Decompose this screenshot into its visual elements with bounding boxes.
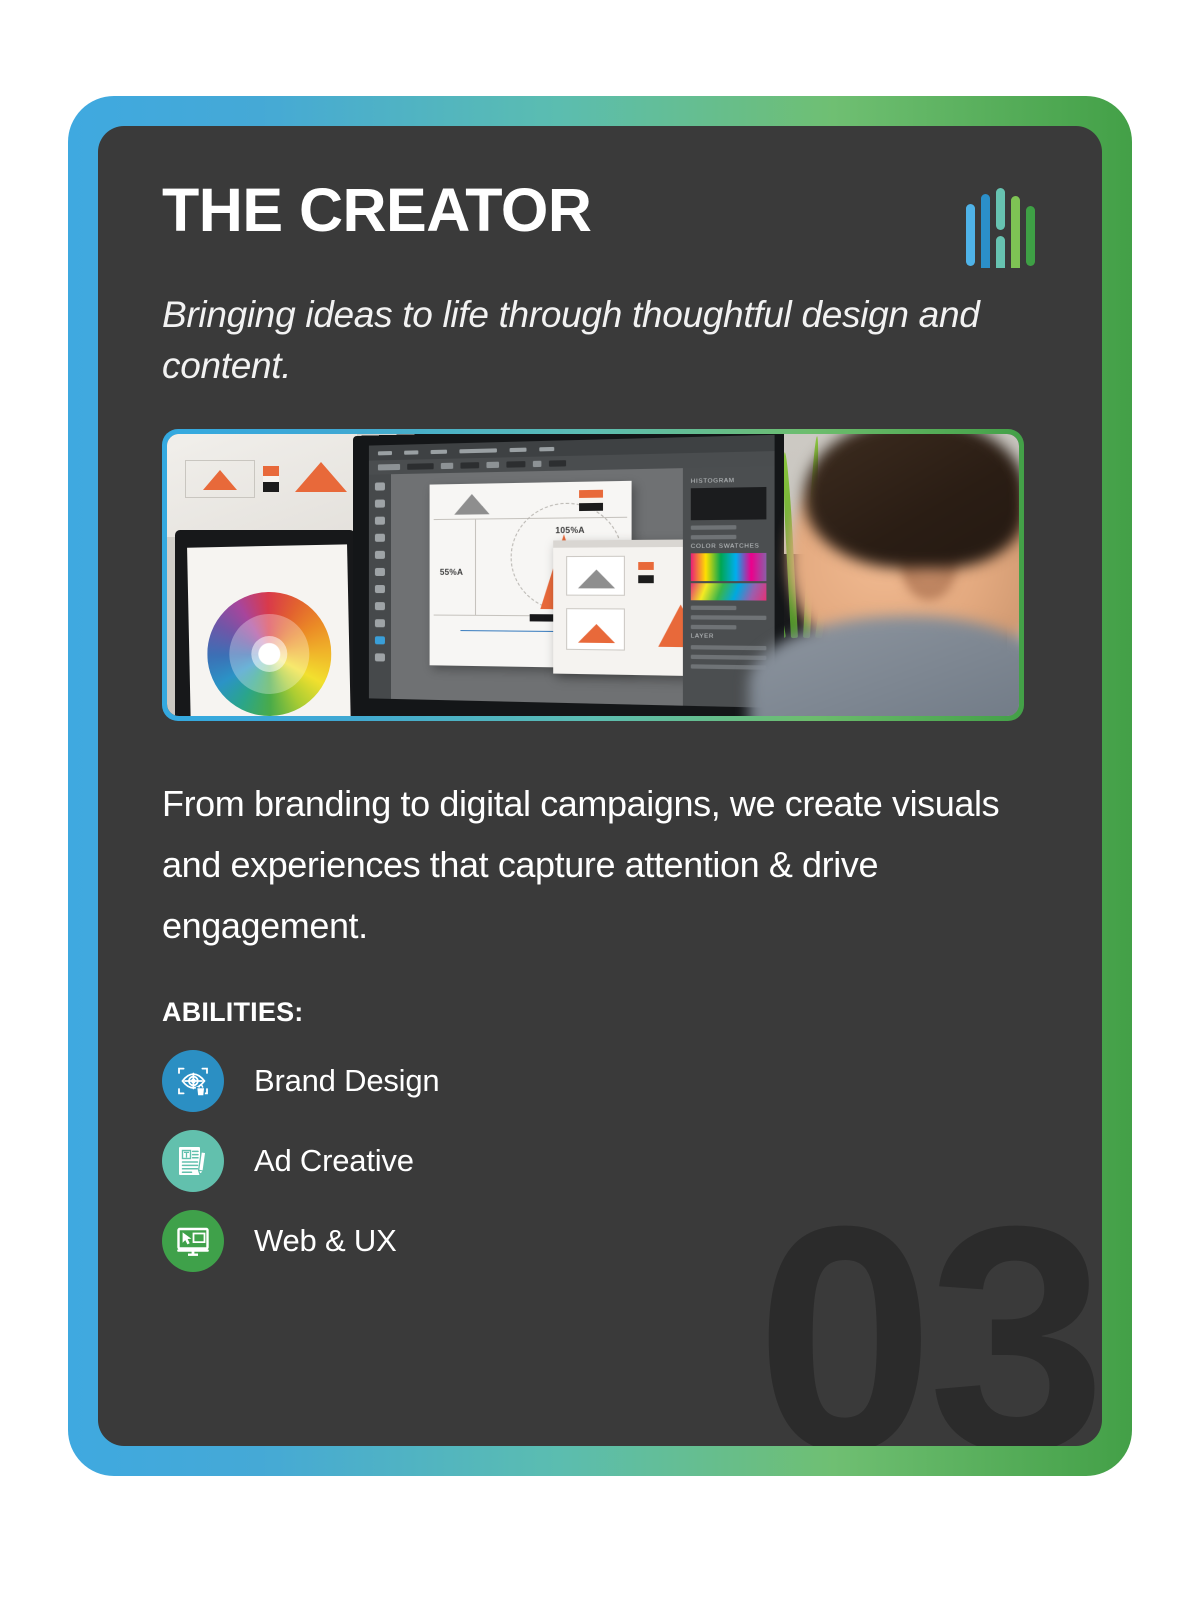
card-body-text: From branding to digital campaigns, we c… [162, 773, 1032, 957]
monitor-cursor-icon [162, 1210, 224, 1272]
card-gradient-frame: 03 THE CREATOR [68, 96, 1132, 1476]
abilities-heading: ABILITIES: [162, 997, 1040, 1028]
page-title: THE CREATOR [162, 178, 591, 242]
page-root: 03 THE CREATOR [0, 0, 1200, 1601]
creator-card: 03 THE CREATOR [98, 126, 1102, 1446]
ability-item-brand-design[interactable]: Brand Design [162, 1050, 1040, 1112]
abilities-list: Brand Design [162, 1050, 1040, 1272]
document-pencil-icon [162, 1130, 224, 1192]
card-header: THE CREATOR [162, 178, 1040, 273]
brand-eye-target-icon [162, 1050, 224, 1112]
equalizer-bars-logo-icon [964, 186, 1036, 273]
designer-workspace-photo: 105%A 55%A 45° B [167, 434, 1019, 716]
card-subtitle: Bringing ideas to life through thoughtfu… [162, 289, 1012, 391]
ability-item-ad-creative[interactable]: Ad Creative [162, 1130, 1040, 1192]
ability-item-web-ux[interactable]: Web & UX [162, 1210, 1040, 1272]
photo-gradient-frame: 105%A 55%A 45° B [162, 429, 1024, 721]
card-content: THE CREATOR Bringing ideas to life [98, 126, 1102, 1446]
ability-label: Ad Creative [254, 1143, 414, 1179]
ability-label: Brand Design [254, 1063, 439, 1099]
ability-label: Web & UX [254, 1223, 397, 1259]
